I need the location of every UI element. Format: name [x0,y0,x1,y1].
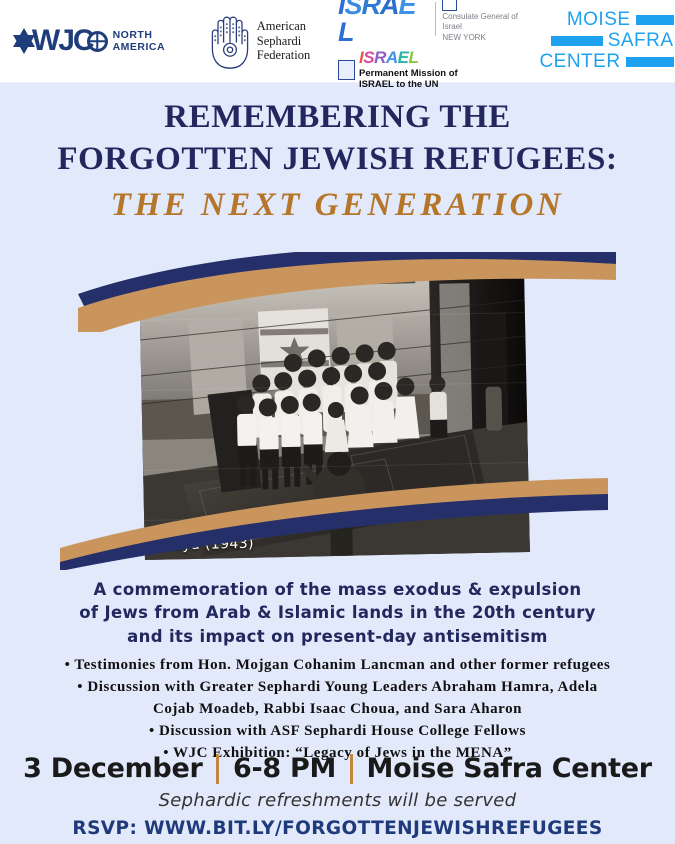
event-time: 6-8 PM [233,753,336,784]
title-subtitle: THE NEXT GENERATION [0,182,675,230]
logo-moise-safra-center: MOISE SAFRA CENTER [538,0,675,82]
refreshments-note: Sephardic refreshments will be served [0,790,675,811]
list-item: • Discussion with Greater Sephardi Young… [0,677,675,699]
msc-line1: MOISE [567,10,631,30]
details-divider-1 [216,754,219,784]
program-list: • Testimonies from Hon. Mojgan Cohanim L… [0,655,675,764]
star-of-david-icon [13,30,35,52]
list-item: • Testimonies from Hon. Mojgan Cohanim L… [0,655,675,677]
israel-state-emblem-icon [338,60,355,80]
details-divider-2 [350,754,353,784]
wjc-region-label: NORTH AMERICA [113,29,166,53]
historical-photo-frame: Benghazi, Libya (1943) [139,272,530,560]
title-line-2: FORGOTTEN JEWISH REFUGEES: [0,138,675,180]
photo-caption-line2: Libya (1943) [161,537,255,554]
flyer-title-block: REMEMBERING THE FORGOTTEN JEWISH REFUGEE… [0,96,675,230]
asf-name-block: American Sephardi Federation [257,19,310,63]
wjc-wordmark: WJC [32,26,93,56]
mission-text-block: Permanent Mission of ISRAEL to the UN [359,68,458,91]
event-date: 3 December [23,753,202,784]
asf-line3: Federation [257,48,310,63]
consulate-line1: Consulate General of Israel [442,12,538,34]
photo-block: Benghazi, Libya (1943) [60,252,620,570]
event-venue: Moise Safra Center [367,753,652,784]
description-line-3: and its impact on present-day antisemiti… [0,625,675,648]
logo-permanent-mission-of-israel: ISRAEL Permanent Mission of ISRAEL to th… [338,49,458,91]
msc-bar-1 [636,15,674,25]
event-details-row: 3 December 6-8 PM Moise Safra Center [0,753,675,784]
historical-photo [139,272,530,560]
israel-emblem-icon [442,0,457,11]
msc-line2: SAFRA [608,31,674,51]
description-line-1: A commemoration of the mass exodus & exp… [0,578,675,601]
israel-wordmark-consulate: ISRAEL [338,0,429,46]
title-line-1: REMEMBERING THE [0,96,675,138]
asf-line1: American [257,19,310,34]
event-description: A commemoration of the mass exodus & exp… [0,578,675,648]
logo-israel-group: ISRAEL Consulate General of Israel NEW Y… [338,0,538,82]
wjc-mark: WJC [13,26,108,56]
logo-american-sephardi-federation: American Sephardi Federation [178,0,338,82]
globe-icon [87,31,108,52]
asf-line2: Sephardi [257,34,310,49]
wjc-region-line1: NORTH [113,29,166,41]
list-item: • Discussion with ASF Sephardi House Col… [0,721,675,743]
consulate-line2: NEW YORK [442,33,538,44]
mission-line2: ISRAEL to the UN [359,79,458,90]
msc-bar-2 [551,36,603,46]
consulate-text-block: Consulate General of Israel NEW YORK [442,12,538,44]
photo-caption: Benghazi, Libya (1943) [160,522,254,554]
wjc-region-line2: AMERICA [113,41,166,53]
description-line-2: of Jews from Arab & Islamic lands in the… [0,601,675,624]
mission-line1: Permanent Mission of [359,68,458,79]
list-item: Cojab Moadeb, Rabbi Isaac Choua, and Sar… [0,699,675,721]
israel-wordmark-mission: ISRAEL [359,49,458,66]
logo-consulate-general-of-israel: ISRAEL Consulate General of Israel NEW Y… [338,0,538,46]
logo-divider [435,2,436,36]
hamsa-icon [206,12,254,70]
logo-wjc-north-america: WJC NORTH AMERICA [0,0,178,82]
rsvp-link[interactable]: RSVP: WWW.BIT.LY/FORGOTTENJEWISHREFUGEES [0,818,675,839]
event-flyer: WJC NORTH AMERICA [0,0,675,844]
sponsor-logo-band: WJC NORTH AMERICA [0,0,675,83]
msc-bar-3 [626,57,674,67]
msc-line3: CENTER [539,52,620,72]
